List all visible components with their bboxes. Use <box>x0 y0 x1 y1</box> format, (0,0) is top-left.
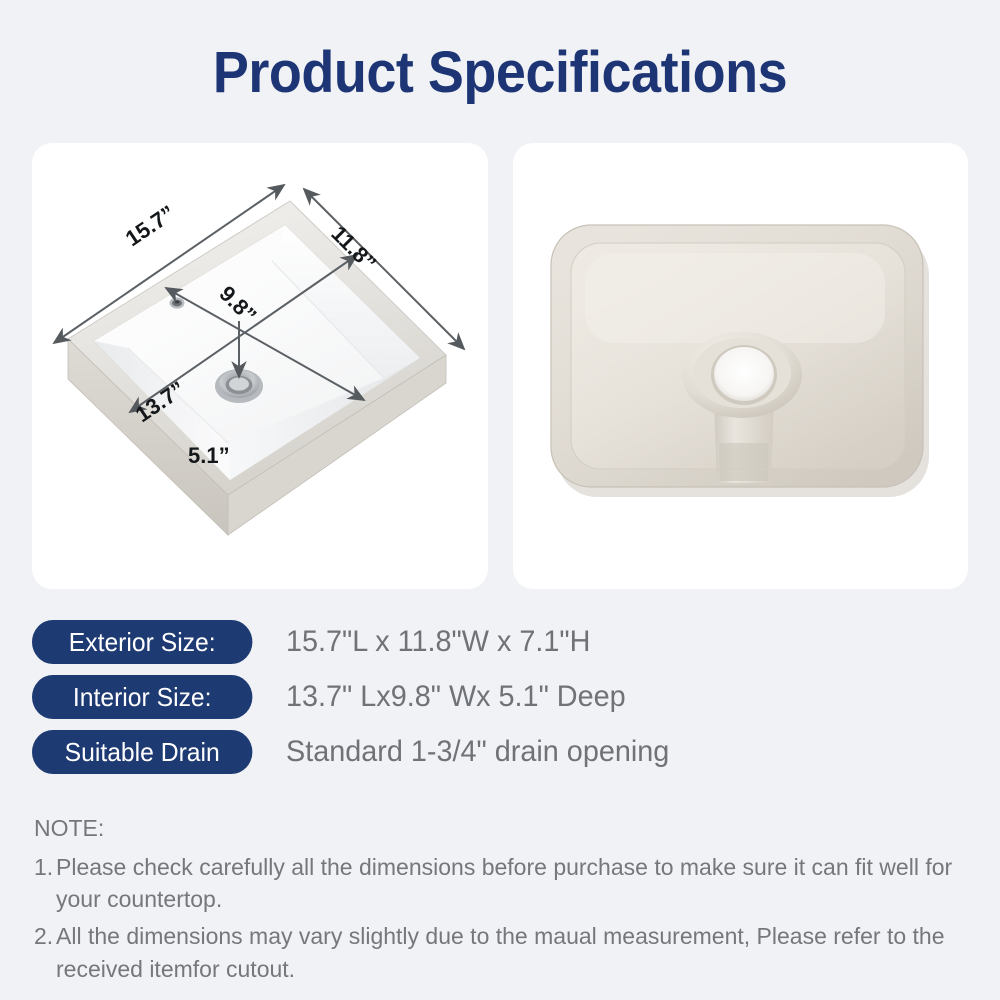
note-item: 1.Please check carefully all the dimensi… <box>34 851 978 916</box>
spec-value-interior-size: 13.7" Lx9.8" Wx 5.1" Deep <box>286 680 626 714</box>
sink-dimension-diagram: 15.7” 11.8” 9.8” 13.7” 5.1” <box>32 143 487 589</box>
dim-label-15-7: 15.7” <box>121 200 180 251</box>
sink-dimension-card[interactable]: 15.7” 11.8” 9.8” 13.7” 5.1” <box>32 143 488 589</box>
spec-label-exterior-size: Exterior Size: <box>32 620 252 664</box>
spec-label-suitable-drain: Suitable Drain <box>32 730 252 774</box>
specification-list: Exterior Size: 15.7"L x 11.8"W x 7.1"H I… <box>32 618 972 783</box>
sink-bottom-view-photo <box>513 143 968 589</box>
spec-value-suitable-drain: Standard 1-3/4" drain opening <box>286 735 669 769</box>
spec-row-interior-size: Interior Size: 13.7" Lx9.8" Wx 5.1" Deep <box>32 673 972 721</box>
spec-value-exterior-size: 15.7"L x 11.8"W x 7.1"H <box>286 625 590 659</box>
product-image-gallery: 15.7” 11.8” 9.8” 13.7” 5.1” <box>32 143 968 589</box>
note-item: 2.All the dimensions may vary slightly d… <box>34 920 978 985</box>
note-number: 1. <box>34 851 56 884</box>
dim-label-5-1: 5.1” <box>188 443 230 468</box>
page-title: Product Specifications <box>35 44 965 102</box>
spec-row-suitable-drain: Suitable Drain Standard 1-3/4" drain ope… <box>32 728 972 776</box>
note-text: All the dimensions may vary slightly due… <box>56 923 945 982</box>
note-number: 2. <box>34 920 56 953</box>
spec-label-interior-size: Interior Size: <box>32 675 252 719</box>
note-text: Please check carefully all the dimension… <box>56 854 952 913</box>
notes-heading: NOTE: <box>34 812 978 845</box>
spec-row-exterior-size: Exterior Size: 15.7"L x 11.8"W x 7.1"H <box>32 618 972 666</box>
notes-section: NOTE: 1.Please check carefully all the d… <box>34 812 978 989</box>
sink-bottom-view-card[interactable] <box>513 143 969 589</box>
